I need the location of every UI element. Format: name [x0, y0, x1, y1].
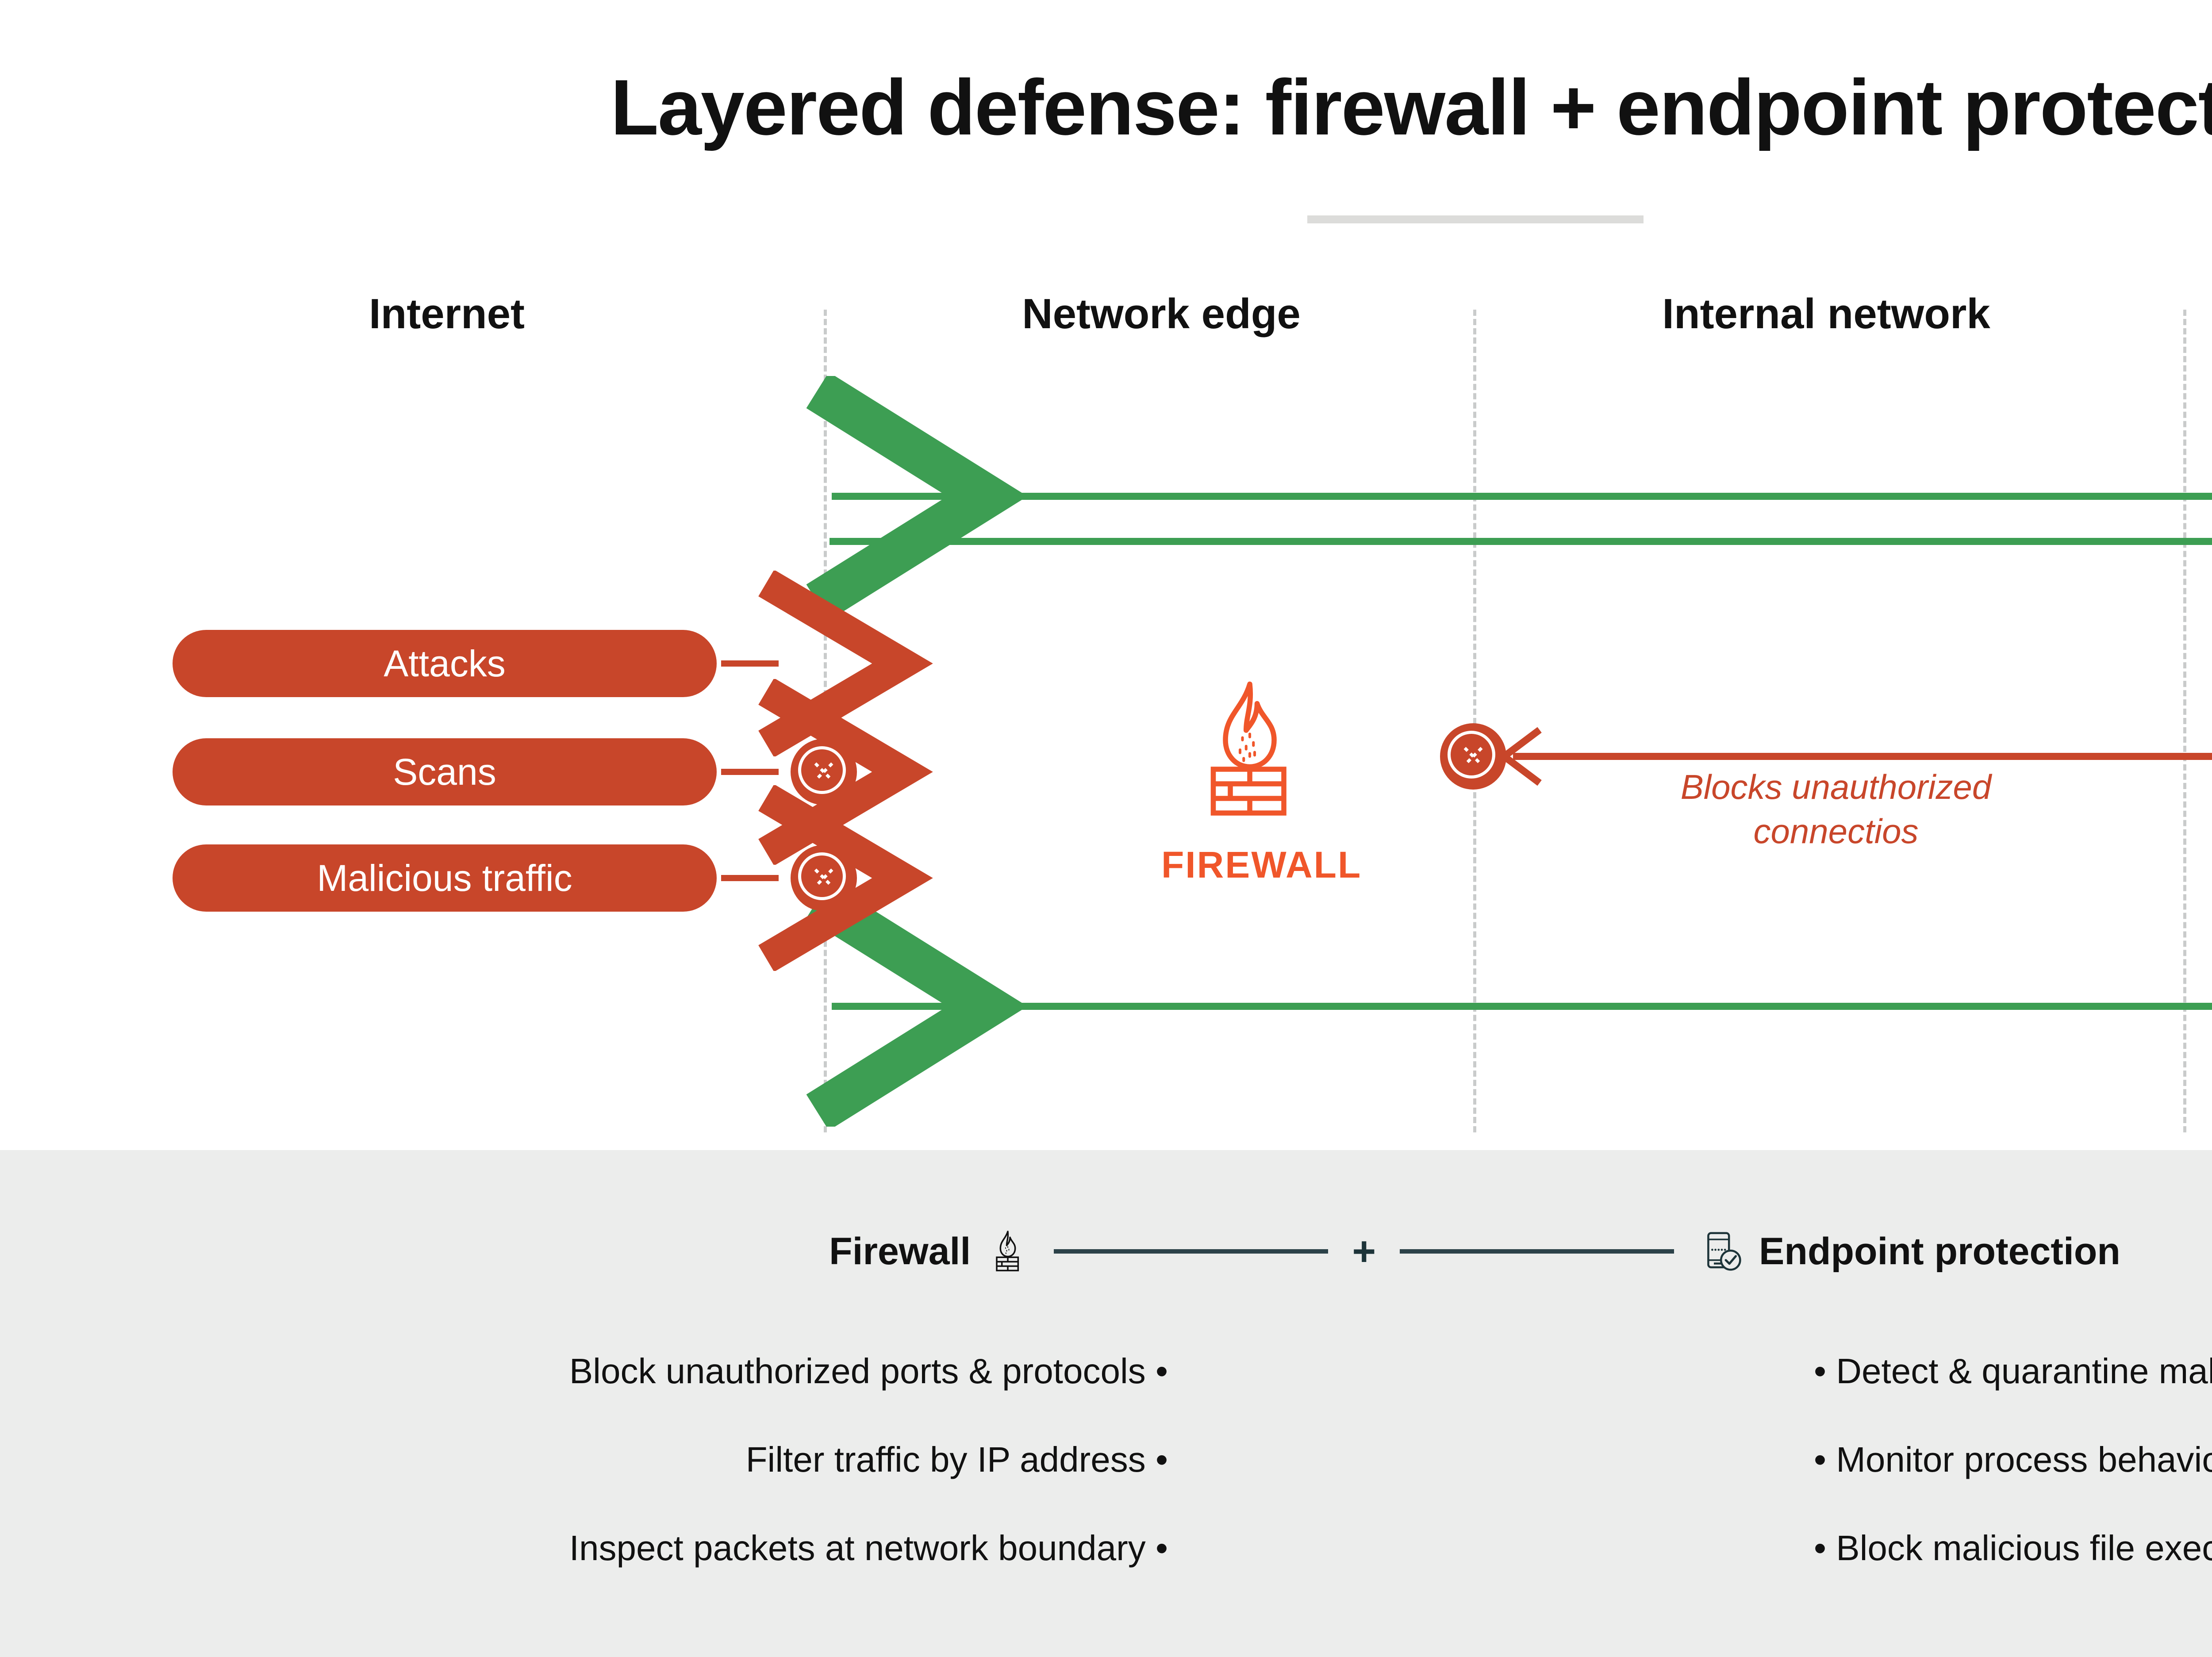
- list-item: • Monitor process behavior: [1814, 1415, 2212, 1504]
- annotation-line-2: connectios: [1571, 809, 2101, 854]
- annotation-line-1: Blocks unauthorized: [1571, 765, 2101, 809]
- device-check-shield-icon: [1698, 1227, 1746, 1275]
- list-item: • Block malicious file execution: [1814, 1504, 2212, 1592]
- bullet-icon: •: [1156, 1528, 1168, 1568]
- blocked-badge-malicious-traffic: [791, 845, 857, 911]
- infographic-canvas: Layered defense: firewall + endpoint pro…: [0, 0, 2212, 1657]
- list-item-text: Inspect packets at network boundary: [569, 1528, 1146, 1568]
- list-item-text: Detect & quarantine malware: [1836, 1351, 2212, 1391]
- list-item-text: Filter traffic by IP address: [746, 1440, 1146, 1479]
- legend-firewall-title: Firewall: [829, 1230, 971, 1273]
- list-item: Filter traffic by IP address •: [0, 1415, 1168, 1504]
- firewall-flame-brick-icon: [1177, 677, 1323, 823]
- bullet-icon: •: [1814, 1351, 1826, 1391]
- firewall-label: FIREWALL: [1161, 844, 1338, 886]
- bullet-icon: •: [1156, 1351, 1168, 1391]
- list-item: • Detect & quarantine malware: [1814, 1327, 2212, 1415]
- block-x-icon: [1440, 723, 1506, 790]
- bullet-icon: •: [1814, 1528, 1826, 1568]
- bullet-icon: •: [1814, 1440, 1826, 1479]
- list-item-text: Monitor process behavior: [1836, 1440, 2212, 1479]
- legend-connector-left: [1054, 1249, 1328, 1254]
- flow-arrows-layer: [0, 0, 2212, 1150]
- threat-pill-label: Scans: [393, 751, 496, 794]
- endpoint-capability-list: • Detect & quarantine malware • Monitor …: [1814, 1327, 2212, 1592]
- list-item-text: Block unauthorized ports & protocols: [569, 1351, 1146, 1391]
- legend-connector-right: [1400, 1249, 1674, 1254]
- diagram-area: Internet Network edge Internal network D…: [0, 0, 2212, 1150]
- blocked-badge-scans: [791, 739, 857, 805]
- threat-pill-attacks[interactable]: Attacks: [173, 630, 717, 697]
- threat-pill-label: Malicious traffic: [317, 857, 572, 900]
- block-x-icon: [791, 845, 857, 911]
- list-item-text: Block malicious file execution: [1836, 1528, 2212, 1568]
- firewall-capability-list: Block unauthorized ports & protocols • F…: [0, 1327, 1168, 1592]
- bullet-icon: •: [1156, 1440, 1168, 1479]
- legend-endpoint-title: Endpoint protection: [1759, 1230, 2120, 1273]
- firewall-flame-brick-icon: [986, 1229, 1030, 1273]
- threat-pill-label: Attacks: [384, 642, 505, 685]
- blocked-badge-laptop-connection: [1440, 723, 1506, 790]
- threat-pill-malicious-traffic[interactable]: Malicious traffic: [173, 844, 717, 912]
- block-x-icon: [791, 739, 857, 805]
- legend-plus-sign: +: [1352, 1231, 1376, 1272]
- threat-pill-scans[interactable]: Scans: [173, 738, 717, 805]
- firewall-node: FIREWALL: [1161, 677, 1338, 886]
- blocked-connection-annotation: Blocks unauthorized connectios: [1571, 765, 2101, 854]
- list-item: Inspect packets at network boundary •: [0, 1504, 1168, 1592]
- list-item: Block unauthorized ports & protocols •: [0, 1327, 1168, 1415]
- legend-header: Firewall + Endpoint protection: [0, 1227, 2212, 1275]
